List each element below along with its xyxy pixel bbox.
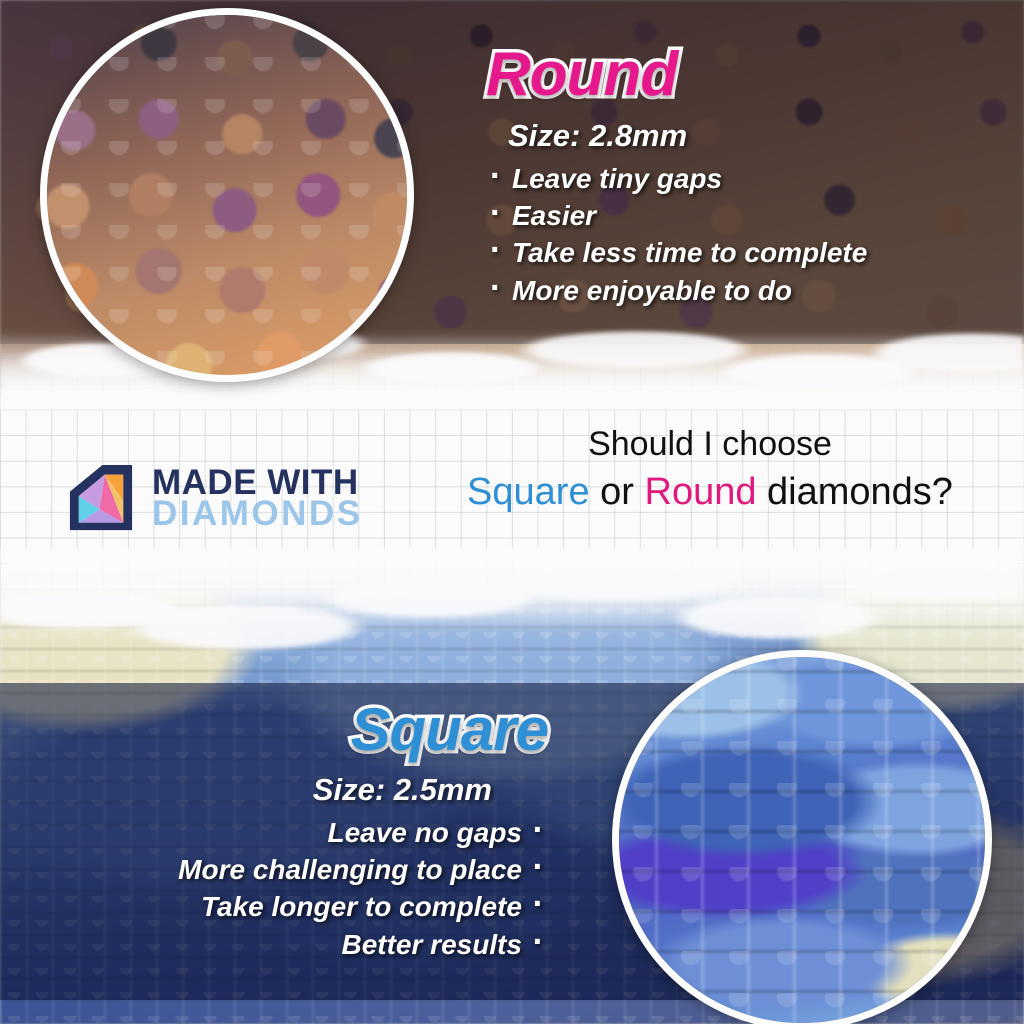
round-inset-highlights bbox=[47, 15, 407, 375]
list-item: More enjoyable to do bbox=[486, 272, 1006, 309]
logo-line-2: DIAMONDS bbox=[152, 499, 363, 530]
diamond-logo-icon bbox=[64, 462, 138, 536]
round-title: Round bbox=[486, 44, 1006, 106]
square-size-label: Size: 2.5mm bbox=[0, 772, 492, 808]
list-item: Take longer to complete bbox=[0, 888, 548, 925]
round-feature-list: Leave tiny gaps Easier Take less time to… bbox=[486, 160, 1006, 309]
square-magnifier-inset bbox=[612, 650, 992, 1024]
square-feature-list: Leave no gaps More challenging to place … bbox=[0, 814, 548, 963]
question-word-square: Square bbox=[467, 471, 590, 513]
question-line-2: Square or Round diamonds? bbox=[430, 470, 990, 515]
list-item: Leave tiny gaps bbox=[486, 160, 1006, 197]
question-connector: or bbox=[590, 471, 645, 513]
round-text-block: Round Size: 2.8mm Leave tiny gaps Easier… bbox=[486, 44, 1006, 309]
list-item: Take less time to complete bbox=[486, 234, 1006, 271]
list-item: Leave no gaps bbox=[0, 814, 548, 851]
question-word-round: Round bbox=[645, 471, 757, 513]
list-item: Easier bbox=[486, 197, 1006, 234]
square-inset-highlights bbox=[619, 657, 985, 1023]
infographic-canvas: Round Size: 2.8mm Leave tiny gaps Easier… bbox=[0, 0, 1024, 1024]
question-line-1: Should I choose bbox=[430, 424, 990, 464]
logo-wordmark: MADE WITH DIAMONDS bbox=[152, 468, 363, 530]
square-title: Square bbox=[0, 700, 548, 760]
question-tail: diamonds? bbox=[756, 471, 952, 513]
square-text-block: Square Size: 2.5mm Leave no gaps More ch… bbox=[0, 700, 548, 963]
brand-logo: MADE WITH DIAMONDS bbox=[64, 462, 363, 536]
torn-edge-bottom bbox=[0, 548, 1024, 668]
list-item: More challenging to place bbox=[0, 851, 548, 888]
list-item: Better results bbox=[0, 926, 548, 963]
round-size-label: Size: 2.8mm bbox=[508, 118, 1006, 154]
question-block: Should I choose Square or Round diamonds… bbox=[430, 424, 990, 515]
round-magnifier-inset bbox=[40, 8, 414, 382]
